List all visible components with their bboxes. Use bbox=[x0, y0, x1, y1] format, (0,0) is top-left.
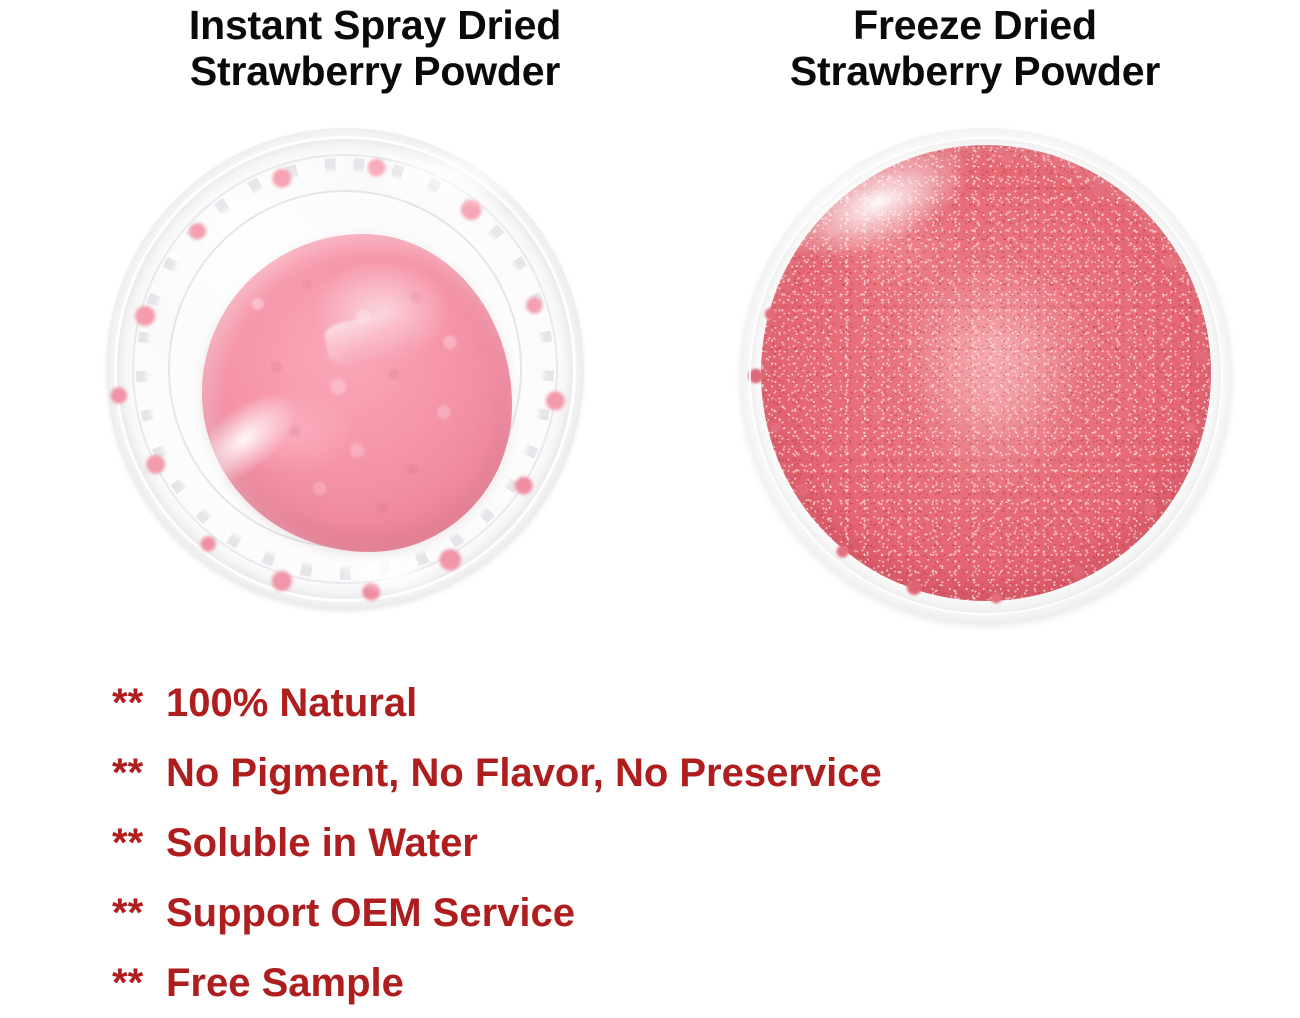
red-powder-granules bbox=[761, 145, 1212, 601]
bullet-mark-icon: ** bbox=[112, 808, 166, 878]
product-comparison-image: Instant Spray Dried Strawberry Powder Fr… bbox=[0, 0, 1300, 1018]
product-title-left-line2: Strawberry Powder bbox=[60, 48, 690, 94]
freeze-dried-powder-photo bbox=[740, 128, 1232, 624]
feature-label: Free Sample bbox=[166, 948, 404, 1018]
feature-item-oem: ** Support OEM Service bbox=[112, 878, 1212, 948]
feature-label: Support OEM Service bbox=[166, 878, 575, 948]
feature-item-no-additives: ** No Pigment, No Flavor, No Preservice bbox=[112, 738, 1212, 808]
product-title-right-line2: Strawberry Powder bbox=[660, 48, 1290, 94]
bullet-mark-icon: ** bbox=[112, 668, 166, 738]
feature-label: 100% Natural bbox=[166, 668, 417, 738]
pink-powder-pressed-facet bbox=[323, 308, 417, 367]
product-title-right: Freeze Dried Strawberry Powder bbox=[660, 2, 1290, 94]
feature-item-natural: ** 100% Natural bbox=[112, 668, 1212, 738]
feature-item-soluble: ** Soluble in Water bbox=[112, 808, 1212, 878]
product-title-left-line1: Instant Spray Dried bbox=[60, 2, 690, 48]
feature-label: No Pigment, No Flavor, No Preservice bbox=[166, 738, 882, 808]
feature-list: ** 100% Natural ** No Pigment, No Flavor… bbox=[112, 668, 1212, 1018]
feature-label: Soluble in Water bbox=[166, 808, 478, 878]
red-powder-center-bloom bbox=[914, 309, 1076, 492]
bullet-mark-icon: ** bbox=[112, 948, 166, 1018]
spray-dried-powder-photo bbox=[106, 128, 584, 610]
feature-item-free-sample: ** Free Sample bbox=[112, 948, 1212, 1018]
product-title-right-line1: Freeze Dried bbox=[660, 2, 1290, 48]
product-title-left: Instant Spray Dried Strawberry Powder bbox=[60, 2, 690, 94]
red-powder-fill bbox=[761, 145, 1212, 601]
bullet-mark-icon: ** bbox=[112, 878, 166, 948]
bullet-mark-icon: ** bbox=[112, 738, 166, 808]
